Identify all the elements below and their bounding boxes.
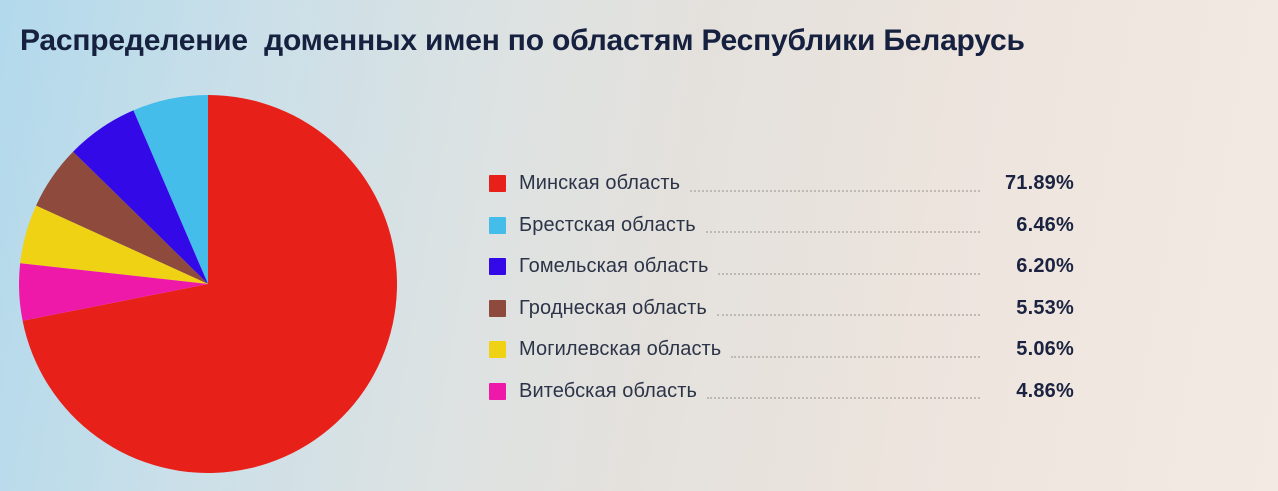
legend-row[interactable]: Гроднеская область5.53%: [489, 288, 1074, 330]
legend-value: 6.20%: [990, 255, 1074, 278]
legend-leader-dots: [707, 383, 980, 399]
legend-value: 5.53%: [990, 297, 1074, 320]
legend-label: Гомельская область: [519, 255, 708, 278]
swatch-gomelskaya: [489, 258, 506, 275]
legend-row[interactable]: Минская область71.89%: [489, 163, 1074, 205]
swatch-vitebskaya: [489, 383, 506, 400]
legend-value: 71.89%: [990, 172, 1074, 195]
page-title: Распределение доменных имен по областям …: [20, 24, 1025, 58]
chart-canvas: Распределение доменных имен по областям …: [0, 0, 1278, 491]
legend-leader-dots: [706, 217, 980, 233]
legend-row[interactable]: Гомельская область6.20%: [489, 246, 1074, 288]
legend-label: Брестская область: [519, 214, 696, 237]
legend-value: 4.86%: [990, 380, 1074, 403]
swatch-brestskaya: [489, 217, 506, 234]
legend-row[interactable]: Могилевская область5.06%: [489, 329, 1074, 371]
legend-leader-dots: [690, 176, 980, 192]
legend-label: Минская область: [519, 172, 680, 195]
swatch-minskaya: [489, 175, 506, 192]
legend-leader-dots: [718, 259, 980, 275]
pie-slice-group: [19, 95, 397, 473]
legend-value: 6.46%: [990, 214, 1074, 237]
legend-label: Могилевская область: [519, 338, 721, 361]
pie-chart-svg: [19, 95, 397, 473]
swatch-grodneskaya: [489, 300, 506, 317]
legend: Минская область71.89%Брестская область6.…: [489, 163, 1074, 412]
legend-value: 5.06%: [990, 338, 1074, 361]
legend-leader-dots: [731, 342, 980, 358]
legend-row[interactable]: Витебская область4.86%: [489, 371, 1074, 413]
legend-label: Витебская область: [519, 380, 697, 403]
legend-row[interactable]: Брестская область6.46%: [489, 205, 1074, 247]
legend-leader-dots: [717, 300, 980, 316]
pie-chart: [19, 95, 397, 473]
swatch-mogilevskaya: [489, 341, 506, 358]
legend-label: Гроднеская область: [519, 297, 707, 320]
